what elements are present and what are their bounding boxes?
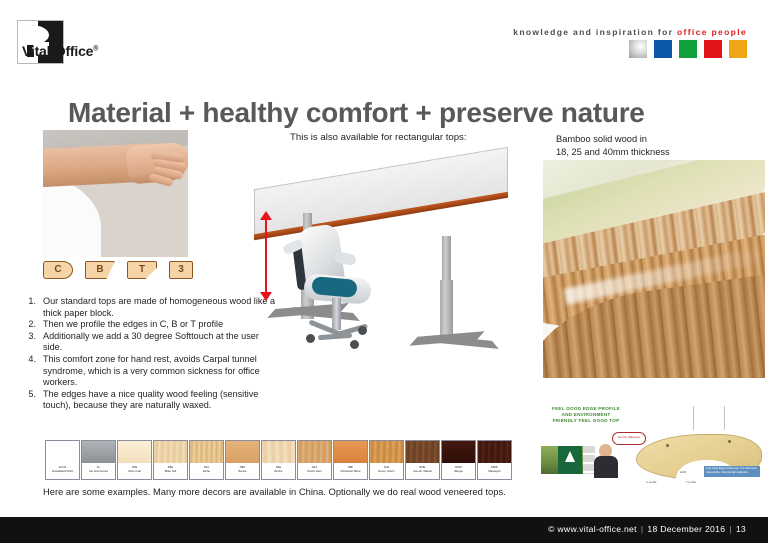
decor-swatch-color [262, 441, 295, 463]
list-item: 5. The edges have a nice quality wood fe… [24, 389, 276, 412]
decor-swatch[interactable]: N56L Amerik. Walnut [405, 440, 440, 480]
footer-page-number: 13 [736, 524, 746, 534]
brand-square-silver [629, 40, 647, 58]
decor-swatch[interactable]: N8F Schweizer Birne [333, 440, 368, 480]
catalog-desk-grommet-1 [666, 444, 669, 447]
decor-name: Birke hell [154, 470, 187, 474]
decor-swatch-color [406, 441, 439, 463]
footer-date: 18 December 2016 [647, 524, 725, 534]
list-item: 4. This comfort zone for hand rest, avoi… [24, 354, 276, 389]
desk-right-leg-upper [442, 236, 451, 282]
rectangular-tops-caption: This is also available for rectangular t… [290, 132, 467, 143]
list-item: 1. Our standard tops are made of homogen… [24, 296, 276, 319]
decor-name: Buche [262, 470, 295, 474]
brand-square-green [679, 40, 697, 58]
edge-profile-t-icon: T [127, 261, 157, 279]
decor-swatch[interactable]: D8H Birke hell [153, 440, 188, 480]
height-adjust-arrow-shaft [265, 218, 267, 294]
bamboo-caption-line-2: 18, 25 and 40mm thickness [556, 146, 670, 159]
edge-profile-3-icon: 3 [169, 261, 193, 279]
decor-swatch-strip: ACO4 kristallweiß 0016 AL Alu shimmered … [45, 440, 512, 480]
decor-swatch-label: AL Alu shimmered [82, 463, 115, 479]
catalog-caption-left: C-profile [646, 480, 657, 484]
brand-square-blue [654, 40, 672, 58]
chair-seat-cushion [311, 276, 357, 298]
decor-name: Buche [226, 470, 259, 474]
speech-bubble: feel the difference [612, 432, 646, 445]
decor-swatch-color [298, 441, 331, 463]
decor-swatch[interactable]: N61 Eiche [189, 440, 224, 480]
decor-swatch-color [82, 441, 115, 463]
feature-list: 1. Our standard tops are made of homogen… [24, 296, 276, 412]
decor-name: Wenge [442, 470, 475, 474]
edge-profile-c-icon: C [43, 261, 73, 279]
header-tagline: knowledge and inspiration for office peo… [513, 27, 747, 37]
brand-color-squares [629, 40, 747, 58]
list-item-text: Additionally we add a 30 degree Softtouc… [43, 331, 276, 354]
footer-separator-2: | [729, 524, 732, 534]
list-item-number: 5. [24, 389, 43, 412]
decor-swatch-color [226, 441, 259, 463]
catalog-divider-1 [693, 406, 694, 430]
decor-swatch[interactable]: N5VF Wenge [441, 440, 476, 480]
decor-swatch-color [478, 441, 511, 463]
logo-wordmark-text: Vital-Office [22, 43, 93, 59]
brand-square-red [704, 40, 722, 58]
decor-swatch-label: ACO4 kristallweiß 0016 [46, 463, 79, 479]
catalog-headline: FEEL GOOD EDGE PROFILE AND ENVIRONMENT F… [540, 406, 632, 425]
decor-swatch-color [442, 441, 475, 463]
decor-swatch-label: N4A Kirsch Horn [298, 463, 331, 479]
decor-name: Europ. Ahorn [370, 470, 403, 474]
decor-name: Alu shimmered [82, 470, 115, 474]
list-item-number: 4. [24, 354, 43, 389]
decor-swatch-label: N5VF Wenge [442, 463, 475, 479]
decor-swatch[interactable]: S8H Buche [261, 440, 296, 480]
desk-right-leg-lower [440, 280, 453, 342]
decor-swatch[interactable]: ACO4 kristallweiß 0016 [45, 440, 80, 480]
chair-caster-3 [350, 340, 359, 349]
decor-swatch-color [118, 441, 151, 463]
arrow-up-icon [260, 211, 272, 220]
decor-name: Kirsch Horn [298, 470, 331, 474]
decor-swatch[interactable]: N4A Kirsch Horn [297, 440, 332, 480]
list-item-text: This comfort zone for hand rest, avoids … [43, 354, 276, 389]
decor-name: Eiche [190, 470, 223, 474]
hand-on-desk-edge-photo [43, 130, 188, 257]
decor-swatch-label: D69 Ahorn hell [118, 463, 151, 479]
arrow-down-icon [260, 292, 272, 301]
list-item: 3. Additionally we add a 30 degree Softt… [24, 331, 276, 354]
footer-copyright: © www.vital-office.net [548, 524, 637, 534]
chair-gas-column [332, 298, 341, 330]
page-title: Material + healthy comfort + preserve na… [68, 97, 645, 129]
logo-wordmark: Vital-Office® [22, 43, 98, 59]
decor-swatch-label: D8H Birke hell [154, 463, 187, 479]
decor-swatch-label: S8H Buche [262, 463, 295, 479]
brand-square-orange [729, 40, 747, 58]
slide-footer: © www.vital-office.net|18 December 2016|… [0, 517, 768, 543]
list-item: 2. Then we profile the edges in C, B or … [24, 319, 276, 331]
desk-top-surface [254, 147, 508, 236]
list-item-number: 3. [24, 331, 43, 354]
catalog-headline-line-3: FRIENDLY FEEL GOOD TOP [540, 418, 632, 424]
catalog-caption-right: T-profile [686, 480, 696, 484]
decor-swatch[interactable]: D69 Ahorn hell [117, 440, 152, 480]
decor-swatch-label: N8F Schweizer Birne [334, 463, 367, 479]
decor-swatch[interactable]: N5ML Mahagoni [477, 440, 512, 480]
chair-base-spoke-3 [318, 333, 352, 340]
catalog-desk-grommet-2 [728, 440, 731, 443]
chair-caster-1 [306, 334, 315, 343]
tagline-main: knowledge and inspiration for [513, 27, 677, 37]
decor-swatch[interactable]: N8U Buche [225, 440, 260, 480]
decor-swatch-label: N43 Europ. Ahorn [370, 463, 403, 479]
height-adjustable-desk-illustration [246, 158, 518, 398]
bamboo-solid-wood-photo [543, 160, 765, 378]
catalog-divider-2 [724, 406, 725, 430]
list-item-number: 2. [24, 319, 43, 331]
decor-swatch-label: N56L Amerik. Walnut [406, 463, 439, 479]
decor-name: kristallweiß 0016 [46, 470, 79, 474]
decor-note: Here are some examples. Many more decors… [43, 486, 506, 497]
catalog-caption-small: ACO [680, 470, 686, 474]
decor-swatch-color [154, 441, 187, 463]
list-item-text: The edges have a nice quality wood feeli… [43, 389, 276, 412]
decor-swatch-label: N5ML Mahagoni [478, 463, 511, 479]
list-item-number: 1. [24, 296, 43, 319]
eco-certificate-icon [558, 446, 582, 474]
tagline-highlight: office people [677, 27, 747, 37]
decor-swatch-color [370, 441, 403, 463]
footer-separator-1: | [641, 524, 644, 534]
list-item-text: Our standard tops are made of homogeneou… [43, 296, 276, 319]
list-item-text: Then we profile the edges in C, B or T p… [43, 319, 276, 331]
decor-name: Schweizer Birne [334, 470, 367, 474]
decor-swatch-color [190, 441, 223, 463]
decor-swatch[interactable]: N43 Europ. Ahorn [369, 440, 404, 480]
presenter-body [594, 456, 618, 478]
tree-icon [565, 451, 575, 462]
bamboo-caption-line-1: Bamboo solid wood in [556, 133, 670, 146]
bamboo-caption: Bamboo solid wood in 18, 25 and 40mm thi… [556, 133, 670, 158]
decor-swatch-color [46, 441, 79, 463]
edge-profile-icons: C B T 3 [43, 261, 193, 281]
presenter-photo [594, 444, 618, 476]
edge-profile-b-icon: B [85, 261, 115, 279]
footer-text: © www.vital-office.net|18 December 2016|… [548, 524, 746, 534]
decor-swatch-color [334, 441, 367, 463]
decor-swatch[interactable]: AL Alu shimmered [81, 440, 116, 480]
decor-name: Mahagoni [478, 470, 511, 474]
logo-trademark: ® [93, 45, 98, 52]
chair-caster-2 [358, 326, 367, 335]
decor-swatch-label: N61 Eiche [190, 463, 223, 479]
decor-name: Amerik. Walnut [406, 470, 439, 474]
catalog-page-thumbnail[interactable]: FEEL GOOD EDGE PROFILE AND ENVIRONMENT F… [528, 402, 766, 490]
decor-name: Ahorn hell [118, 470, 151, 474]
decor-swatch-label: N8U Buche [226, 463, 259, 479]
catalog-info-line-2: edge profile, minimize light reflection [706, 471, 758, 475]
catalog-info-bar: Feel Good Edge Profile tops. The Soft to… [704, 466, 760, 477]
